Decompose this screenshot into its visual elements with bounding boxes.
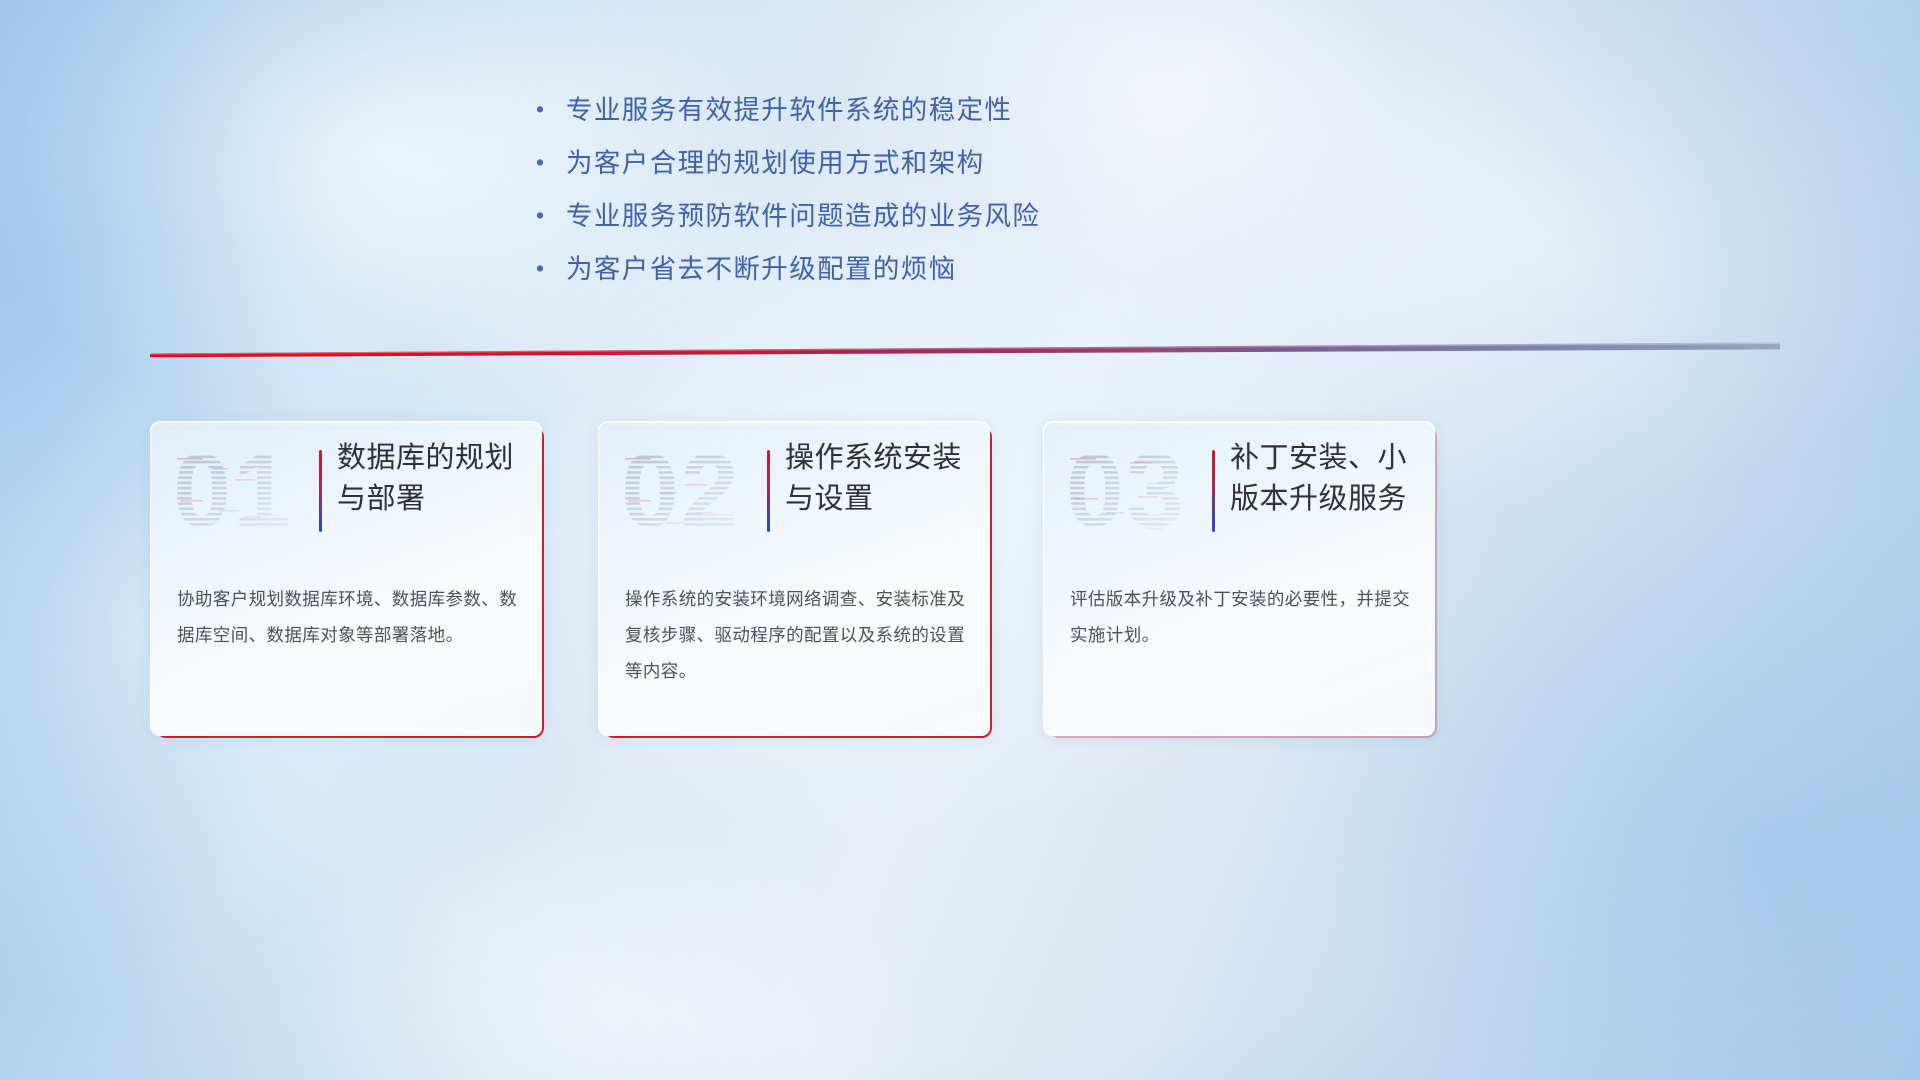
card-title: 操作系统安装与设置: [785, 438, 975, 520]
card-header: 02 操作系统安装与设置: [599, 438, 989, 560]
card-number-01-icon: 01: [173, 440, 305, 548]
service-card[interactable]: 02 操作系统安装与设置 操作系统的安装环境网络调查、安装标准及复核步骤、驱动程…: [598, 421, 990, 736]
service-card[interactable]: 03 补丁安装、小版本升级服务 评估版本升级及补丁安装的必要性，并提交实施计划。: [1043, 421, 1435, 736]
card-title-rule: [319, 450, 322, 532]
card-surface: 02 操作系统安装与设置 操作系统的安装环境网络调查、安装标准及复核步骤、驱动程…: [598, 421, 990, 736]
bullet-marker-icon: •: [536, 204, 566, 227]
section-divider: [150, 339, 1780, 361]
bullet-text: 为客户省去不断升级配置的烦恼: [566, 247, 957, 286]
list-item: • 为客户省去不断升级配置的烦恼: [536, 247, 1376, 300]
card-header: 01 数据库的规划与部署: [151, 438, 541, 560]
bullet-text: 专业服务预防软件问题造成的业务风险: [566, 194, 1040, 233]
card-title: 补丁安装、小版本升级服务: [1230, 438, 1420, 520]
card-number-03-icon: 03: [1066, 440, 1198, 548]
bullet-text: 专业服务有效提升软件系统的稳定性: [566, 88, 1012, 127]
bullet-text: 为客户合理的规划使用方式和架构: [566, 141, 985, 180]
benefits-bullet-list: • 专业服务有效提升软件系统的稳定性 • 为客户合理的规划使用方式和架构 • 专…: [536, 88, 1376, 300]
bullet-marker-icon: •: [536, 257, 566, 280]
svg-text:03: 03: [1066, 440, 1186, 548]
svg-text:01: 01: [173, 440, 293, 548]
svg-text:02: 02: [621, 440, 741, 548]
list-item: • 专业服务有效提升软件系统的稳定性: [536, 88, 1376, 141]
bullet-marker-icon: •: [536, 151, 566, 174]
card-number-02-icon: 02: [621, 440, 753, 548]
card-surface: 01 数据库的规划与部署 协助客户规划数据库环境、数据库参数、数据库空间、数据库…: [150, 421, 542, 736]
list-item: • 为客户合理的规划使用方式和架构: [536, 141, 1376, 194]
service-card[interactable]: 01 数据库的规划与部署 协助客户规划数据库环境、数据库参数、数据库空间、数据库…: [150, 421, 542, 736]
card-title-rule: [767, 450, 770, 532]
card-header: 03 补丁安装、小版本升级服务: [1044, 438, 1434, 560]
card-body-text: 协助客户规划数据库环境、数据库参数、数据库空间、数据库对象等部署落地。: [177, 582, 522, 654]
list-item: • 专业服务预防软件问题造成的业务风险: [536, 194, 1376, 247]
bullet-marker-icon: •: [536, 98, 566, 121]
card-body-text: 操作系统的安装环境网络调查、安装标准及复核步骤、驱动程序的配置以及系统的设置等内…: [625, 582, 970, 690]
card-surface: 03 补丁安装、小版本升级服务 评估版本升级及补丁安装的必要性，并提交实施计划。: [1043, 421, 1435, 736]
service-cards: 01 数据库的规划与部署 协助客户规划数据库环境、数据库参数、数据库空间、数据库…: [150, 421, 1790, 741]
card-title: 数据库的规划与部署: [337, 438, 527, 520]
card-title-rule: [1212, 450, 1215, 532]
card-body-text: 评估版本升级及补丁安装的必要性，并提交实施计划。: [1070, 582, 1415, 654]
